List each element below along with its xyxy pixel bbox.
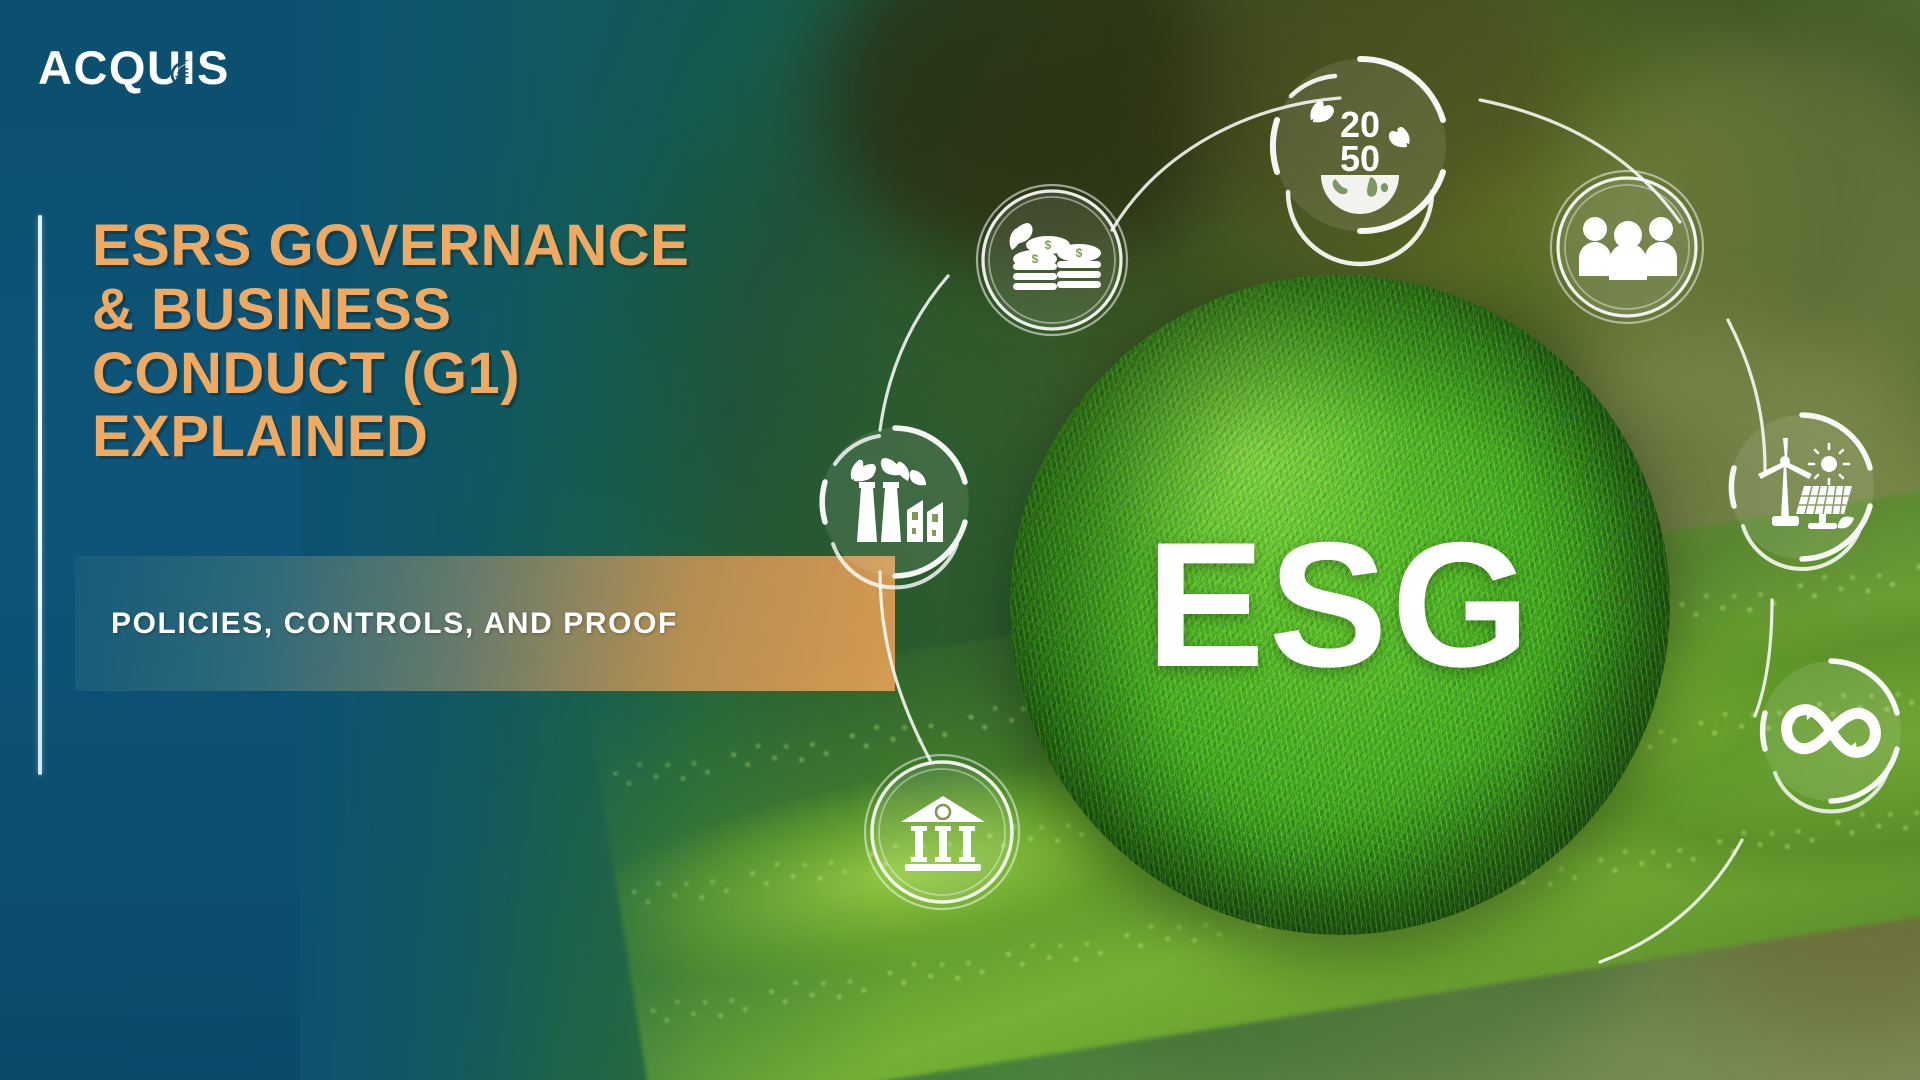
esg-hero-banner: ACQUIS ESRS GOVERNANCE & BUSINESS CONDUC…	[0, 0, 1920, 1080]
brand-logo-text: ACQUIS	[38, 44, 230, 91]
page-title: ESRS GOVERNANCE & BUSINESS CONDUCT (G1) …	[92, 214, 852, 469]
globe-leaf-2050-icon: 20 50	[1301, 91, 1419, 199]
node-circular-economy[interactable]	[1745, 645, 1917, 817]
svg-text:50: 50	[1340, 138, 1380, 179]
node-sustainable-finance[interactable]: $ $ $	[970, 178, 1135, 343]
infinity-recycle-icon	[1779, 696, 1883, 766]
headline-line-3: CONDUCT (G1)	[92, 342, 852, 406]
people-group-icon	[1576, 214, 1680, 282]
node-renewable-energy[interactable]	[1715, 400, 1890, 575]
esg-label: ESG	[1010, 516, 1670, 694]
eco-factory-icon	[841, 454, 949, 550]
headline-line-2: & BUSINESS	[92, 278, 852, 342]
subtitle-banner: POLICIES, CONTROLS, AND PROOF	[75, 556, 895, 691]
coins-leaf-icon: $ $ $	[1001, 215, 1105, 307]
node-governance-institution[interactable]	[855, 745, 1030, 920]
brand-logo[interactable]: ACQUIS	[38, 44, 230, 91]
subtitle-text: POLICIES, CONTROLS, AND PROOF	[75, 607, 678, 641]
bank-columns-icon	[897, 792, 989, 874]
wind-solar-icon	[1748, 440, 1858, 536]
headline-line-4: EXPLAINED	[92, 405, 852, 469]
svg-text:$: $	[1044, 238, 1051, 252]
node-green-industry[interactable]	[805, 412, 985, 592]
esg-sphere: ESG	[1010, 275, 1670, 935]
node-social-community[interactable]	[1545, 165, 1710, 330]
node-target-2050[interactable]: 20 50	[1255, 40, 1465, 250]
headline-line-1: ESRS GOVERNANCE	[92, 214, 852, 278]
leaf-icon	[166, 56, 196, 86]
accent-rule	[38, 215, 42, 775]
svg-text:$: $	[1075, 246, 1082, 260]
left-overlay-solid	[0, 0, 300, 1080]
